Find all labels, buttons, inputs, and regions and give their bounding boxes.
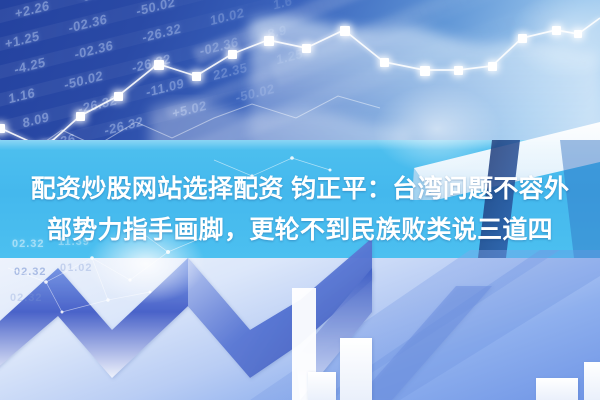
news-banner: -03.95 +2.26 -50.02 -11.26 +5.02 21.09 -… bbox=[0, 0, 600, 400]
headline-block: 配资炒股网站选择配资 钧正平：台湾问题不容外 部势力指手画脚，更轮不到民族败类说… bbox=[0, 160, 600, 260]
headline-line-2: 部势力指手画脚，更轮不到民族败类说三道四 bbox=[47, 210, 553, 251]
headline-line-1: 配资炒股网站选择配资 钧正平：台湾问题不容外 bbox=[31, 169, 570, 210]
